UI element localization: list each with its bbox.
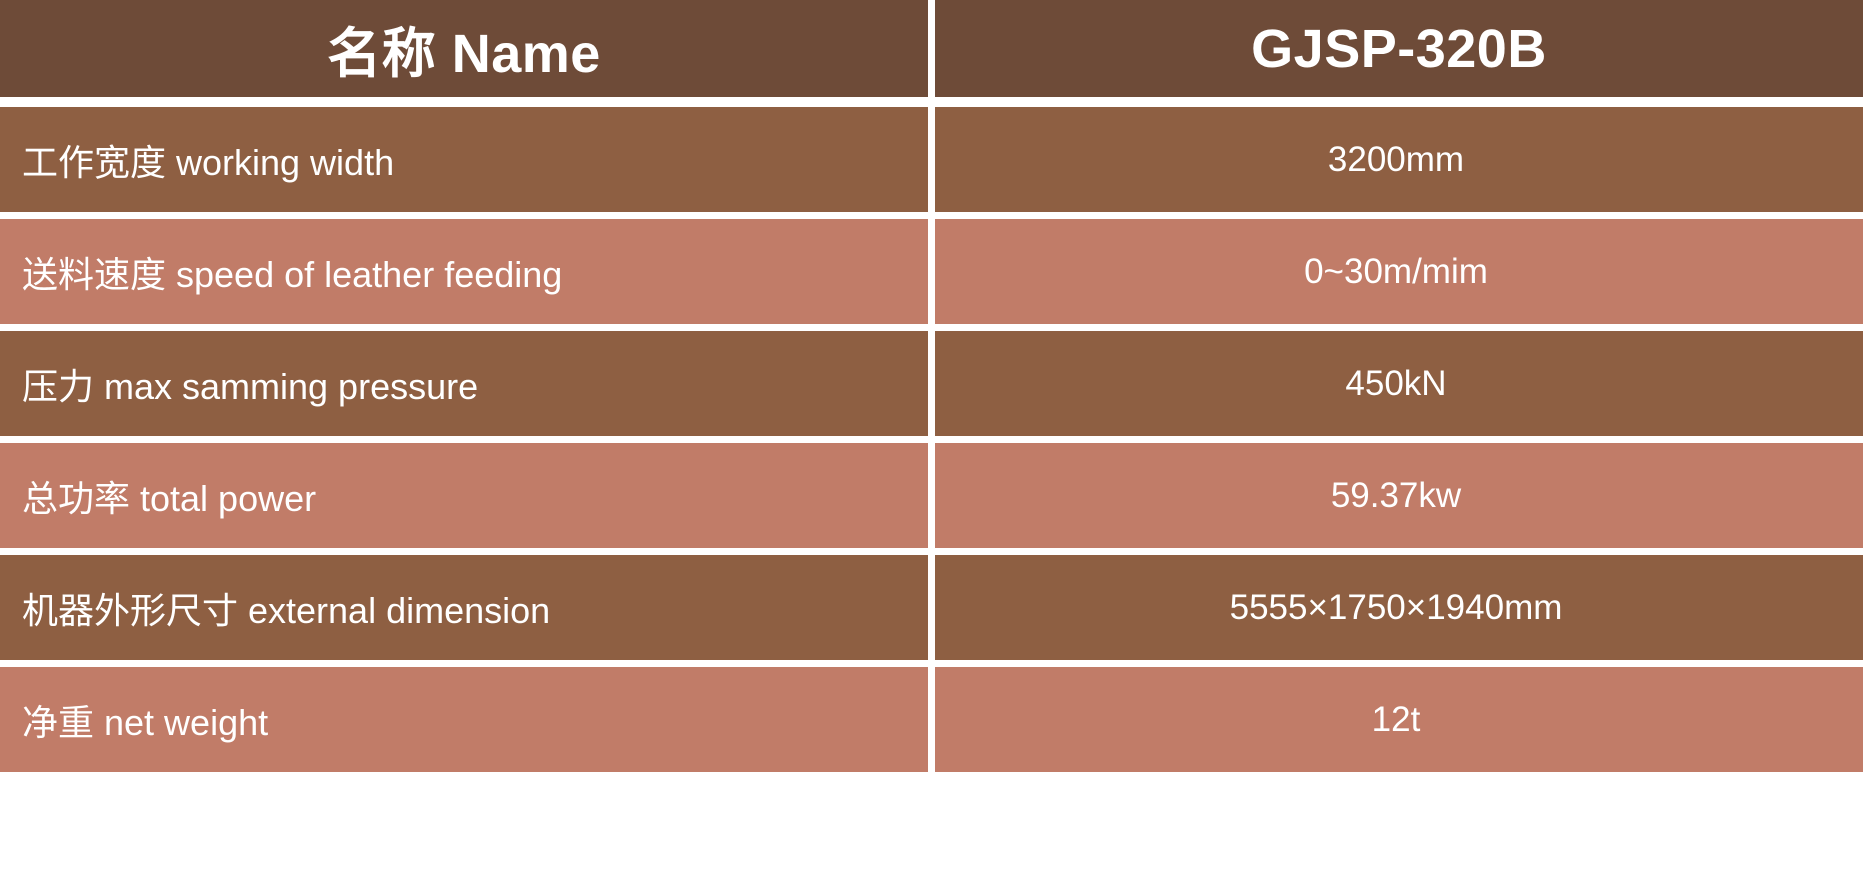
row-label-external-dimension: 机器外形尺寸 external dimension (0, 555, 928, 660)
table-header-row: 名称 Name GJSP-320B (0, 0, 1863, 97)
column-divider (928, 443, 935, 548)
row-value-external-dimension: 5555×1750×1940mm (935, 555, 1863, 660)
column-divider (928, 0, 935, 97)
column-divider (928, 667, 935, 772)
row-divider (0, 548, 1863, 555)
column-divider (928, 219, 935, 324)
row-value-working-width: 3200mm (935, 107, 1863, 212)
header-cell-model: GJSP-320B (935, 0, 1863, 97)
row-divider (0, 97, 1863, 107)
column-divider (928, 331, 935, 436)
row-label-feeding-speed: 送料速度 speed of leather feeding (0, 219, 928, 324)
table-row: 净重 net weight 12t (0, 667, 1863, 772)
row-label-net-weight: 净重 net weight (0, 667, 928, 772)
column-divider (928, 555, 935, 660)
row-divider (0, 324, 1863, 331)
row-value-samming-pressure: 450kN (935, 331, 1863, 436)
row-value-feeding-speed: 0~30m/mim (935, 219, 1863, 324)
header-cell-name: 名称 Name (0, 0, 928, 97)
row-label-working-width: 工作宽度 working width (0, 107, 928, 212)
table-row: 工作宽度 working width 3200mm (0, 107, 1863, 212)
table-row: 压力 max samming pressure 450kN (0, 331, 1863, 436)
table-row: 总功率 total power 59.37kw (0, 443, 1863, 548)
specification-table: 名称 Name GJSP-320B 工作宽度 working width 320… (0, 0, 1863, 870)
row-label-samming-pressure: 压力 max samming pressure (0, 331, 928, 436)
table-row: 机器外形尺寸 external dimension 5555×1750×1940… (0, 555, 1863, 660)
row-value-total-power: 59.37kw (935, 443, 1863, 548)
row-divider (0, 660, 1863, 667)
row-divider (0, 436, 1863, 443)
row-divider (0, 212, 1863, 219)
column-divider (928, 107, 935, 212)
row-value-net-weight: 12t (935, 667, 1863, 772)
row-label-total-power: 总功率 total power (0, 443, 928, 548)
table-row: 送料速度 speed of leather feeding 0~30m/mim (0, 219, 1863, 324)
